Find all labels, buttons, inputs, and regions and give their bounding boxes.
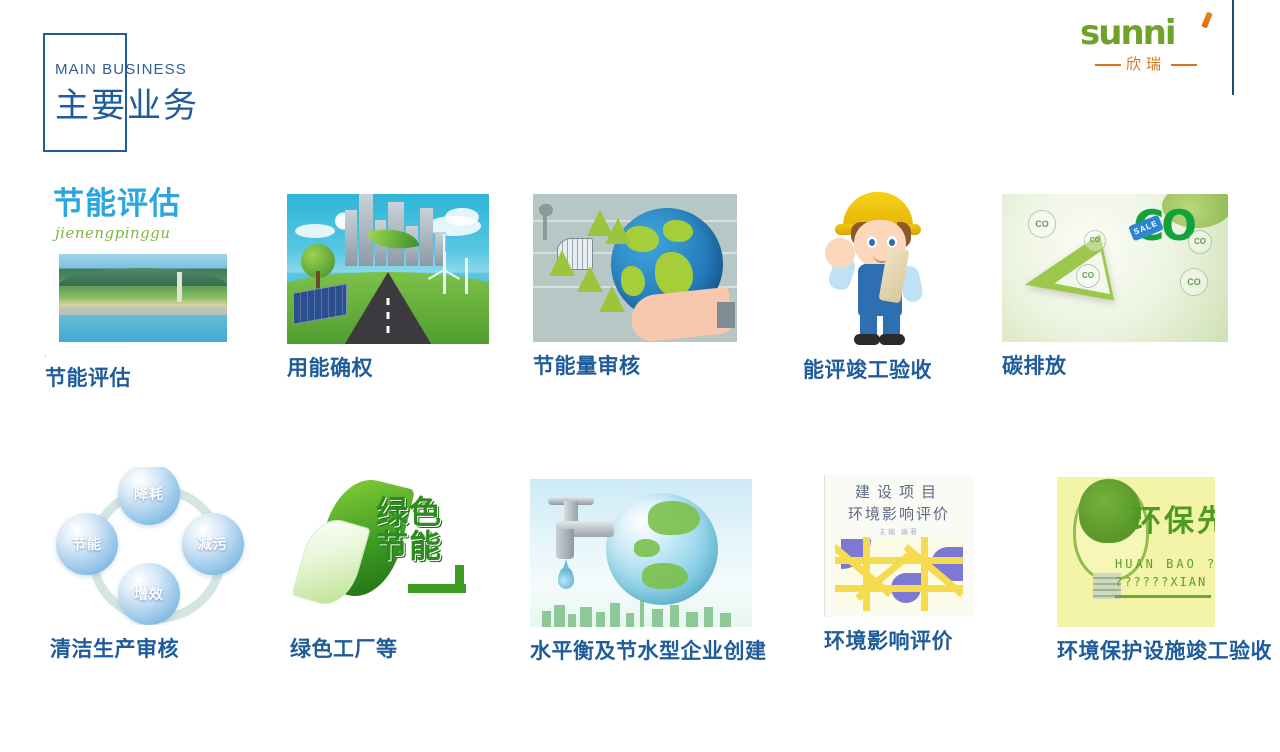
page-title-english: MAIN BUSINESS: [55, 60, 475, 79]
business-card-qingjie-shengchan-shenhe[interactable]: 降耗 减污 增效 节能 清洁生产审核: [50, 467, 260, 663]
card-label: 碳排放: [1002, 354, 1228, 380]
tower-silhouette-icon: [177, 272, 182, 302]
water-drop-icon: [558, 567, 574, 589]
poster-underline-rule: [1115, 595, 1211, 598]
card-label: 绿色工厂等: [290, 637, 486, 663]
card-label: 用能确权: [287, 356, 489, 382]
card-image-energy-saving-assessment-poster: 节能评估 jienengpinggu: [45, 182, 241, 354]
business-card-shuipingheng[interactable]: 水平衡及节水型企业创建: [530, 479, 767, 665]
skyline-building-2: [554, 605, 565, 627]
lamp-head: [539, 204, 553, 216]
cloud-icon-2: [445, 208, 479, 226]
poster-title-text: 环保先: [1131, 505, 1215, 539]
card-label: 水平衡及节水型企业创建: [530, 639, 767, 665]
city-river-photo: [59, 254, 227, 342]
card-image-environmental-protection-bulb-poster: 环保先 HUAN BAO ??? ??????XIAN: [1057, 477, 1215, 627]
skyline-building-11: [704, 607, 713, 627]
art-bar-h2: [835, 585, 963, 592]
business-card-tanpaifang[interactable]: CO SALE CO CO CO CO CO 碳排放: [1002, 194, 1228, 380]
skyline-building-8: [652, 609, 663, 627]
business-card-huanjing-yingxiang-pingjia[interactable]: 建设项目 环境影响评价 主编 编著 环境影响评价: [824, 475, 973, 655]
card-image-green-leaf-energy-logo: 绿色 节能: [290, 467, 486, 625]
logo-leaf-tick-icon: [1201, 11, 1213, 28]
skyline-building-4: [580, 607, 592, 627]
business-card-grid: 节能评估 jienengpinggu 节能评估: [0, 182, 1280, 752]
globe-land-1: [648, 501, 700, 535]
cycle-node-right: 减污: [182, 513, 244, 575]
skyline-building-5: [596, 612, 605, 627]
poster-pinyin-line1: HUAN BAO ???: [1115, 557, 1215, 571]
page-title-chinese: 主要业务: [55, 83, 475, 129]
card-label: 节能评估: [45, 366, 241, 392]
logo-dash-left-icon: [1095, 64, 1121, 66]
skyline-building-1: [542, 611, 551, 627]
tree-icon-5: [549, 250, 575, 276]
business-card-huanbao-sheshi-yanshou[interactable]: 环保先 HUAN BAO ??? ??????XIAN 环境保护设施竣工验收: [1057, 477, 1272, 665]
cycle-node-left: 节能: [56, 513, 118, 575]
meter-box-icon: [717, 302, 735, 328]
tree-icon-2: [605, 218, 631, 244]
turbine-blade-1: [443, 234, 445, 252]
book-title-line2: 环境影响评价: [825, 503, 973, 525]
cycle-node-bottom: 增效: [118, 563, 180, 625]
logo-wordmark-block: sunni: [1076, 14, 1216, 54]
leaf-logo-text-line1: 绿色: [376, 495, 482, 529]
skyline-building-6: [610, 603, 620, 627]
logo-wordmark-text: sunni: [1080, 14, 1175, 52]
page-title: MAIN BUSINESS 主要业务: [55, 60, 475, 129]
worker-eye-left: [867, 236, 877, 248]
globe-land-2: [634, 539, 660, 557]
continent-3: [655, 252, 693, 296]
card-image-green-arrow-co2-bubbles: CO SALE CO CO CO CO CO: [1002, 194, 1228, 342]
card-image-eia-book-cover: 建设项目 环境影响评价 主编 编著: [824, 475, 973, 617]
card-row-1: 节能评估 jienengpinggu 节能评估: [0, 182, 1280, 467]
cloud-icon-3: [295, 224, 335, 238]
continent-2: [663, 220, 693, 242]
wind-turbine-1: [443, 252, 446, 294]
co2-bubble-2: CO: [1084, 230, 1106, 252]
wind-turbine-2: [465, 258, 468, 294]
worker-ok-hand-icon: [825, 238, 855, 268]
card-row-2: 降耗 减污 增效 节能 清洁生产审核 绿色 节能 绿色工厂等: [0, 467, 1280, 752]
logo-chinese-row: 欣瑞: [1076, 54, 1216, 76]
book-byline: 主编 编著: [825, 527, 973, 537]
card-label: 能评竣工验收: [803, 358, 953, 384]
faucet-stem: [564, 501, 578, 523]
building-6: [420, 208, 433, 266]
card-image-faucet-water-globe-illustration: [530, 479, 752, 627]
book-title-line1: 建设项目: [825, 481, 973, 503]
logo-chinese-text: 欣瑞: [1126, 56, 1166, 74]
page-header: MAIN BUSINESS 主要业务 sunni 欣瑞: [0, 0, 1280, 175]
leaf-logo-text-line2: 节能: [376, 529, 482, 563]
card-label: 环境保护设施竣工验收: [1057, 639, 1272, 665]
faucet-spout: [556, 529, 574, 559]
leaf-icon-small: [291, 513, 370, 612]
card-image-cleaner-production-cycle-diagram: 降耗 减污 增效 节能: [50, 467, 260, 625]
art-bar-v2: [921, 537, 928, 611]
card-image-hand-holding-earth-illustration: [533, 194, 737, 342]
recycle-arrow-icon: [408, 565, 464, 593]
card-label: 节能量审核: [533, 354, 737, 380]
skyline-building-3: [568, 614, 576, 627]
skyline-tower: [640, 600, 644, 627]
skyline-building-12: [720, 613, 731, 627]
card-image-green-eco-city-illustration: [287, 194, 489, 344]
worker-eye-right: [887, 236, 897, 248]
poster-title-text: 节能评估: [53, 186, 233, 222]
poster-pinyin-line2: ??????XIAN: [1115, 575, 1207, 589]
card-label: 清洁生产审核: [50, 637, 260, 663]
logo-dash-right-icon: [1171, 64, 1197, 66]
worker-shoe-right: [879, 334, 905, 345]
company-logo: sunni 欣瑞: [1076, 14, 1216, 82]
co2-bubble-1: CO: [1028, 210, 1056, 238]
skyline-building-10: [686, 612, 698, 627]
business-card-jieneng-pinggu[interactable]: 节能评估 jienengpinggu 节能评估: [45, 182, 241, 392]
building-1: [345, 210, 357, 266]
card-image-construction-worker-cartoon: [803, 186, 953, 346]
co2-bubble-4: CO: [1188, 230, 1212, 254]
co2-bubble-3: CO: [1076, 264, 1100, 288]
road-dashed-line: [387, 298, 390, 338]
co2-bubble-5: CO: [1180, 268, 1208, 296]
book-cover-artwork: [835, 537, 963, 611]
card-label: 环境影响评价: [824, 629, 973, 655]
tree-icon-4: [599, 286, 625, 312]
worker-shoe-left: [854, 334, 880, 345]
business-card-jienengliang-shenhe[interactable]: 节能量审核: [533, 194, 737, 380]
business-card-yongneng-quequan[interactable]: 用能确权: [287, 194, 489, 382]
business-card-lvse-gongchang[interactable]: 绿色 节能 绿色工厂等: [290, 467, 486, 663]
skyline-building-9: [670, 605, 679, 627]
water-globe-icon: [606, 493, 718, 605]
business-card-nengping-junggong-yanshou[interactable]: 能评竣工验收: [803, 186, 953, 384]
header-vertical-divider: [1232, 0, 1234, 95]
skyline-building-7: [626, 613, 634, 627]
globe-land-3: [642, 563, 688, 589]
poster-pinyin-text: jienengpinggu: [55, 224, 171, 242]
city-skyline-silhouette: [530, 599, 752, 627]
